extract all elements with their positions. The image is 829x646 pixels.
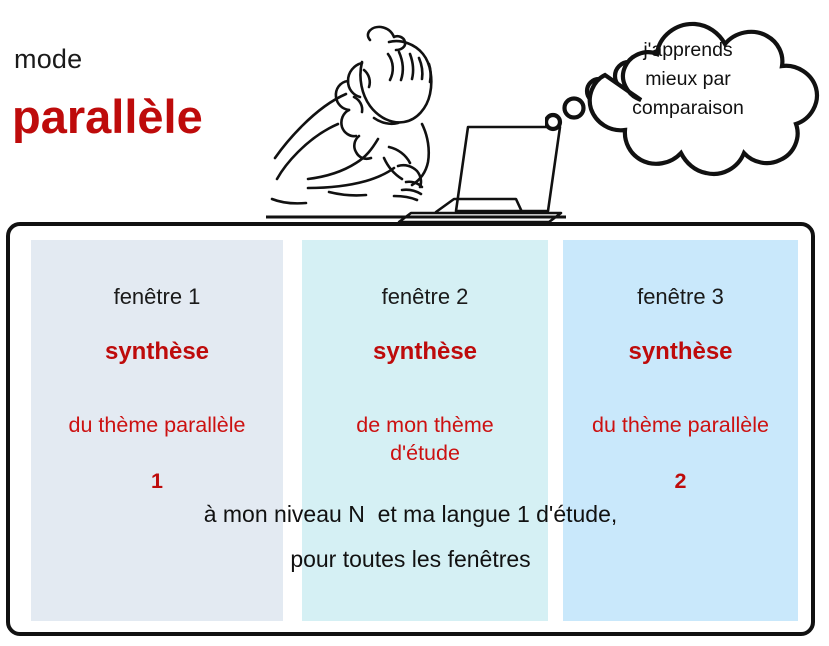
synthesis-subtitle-text-3: du thème parallèle: [592, 413, 769, 437]
window-panel-2[interactable]: fenêtre 2 synthèse de mon thème d'étude: [302, 240, 548, 621]
synthesis-subtitle-1: du thème parallèle 1: [31, 383, 283, 495]
mode-title: parallèle: [12, 89, 203, 144]
window-panel-2-content: fenêtre 2 synthèse de mon thème d'étude: [302, 240, 548, 467]
window-label-3: fenêtre 3: [563, 284, 798, 310]
synthesis-label-2: synthèse: [302, 338, 548, 366]
windows-frame: fenêtre 1 synthèse du thème parallèle 1 …: [6, 222, 815, 636]
slide-root: mode parallèle: [0, 0, 829, 646]
window-panel-1[interactable]: fenêtre 1 synthèse du thème parallèle 1: [31, 240, 283, 621]
mode-label: mode: [14, 44, 82, 75]
synthesis-label-3: synthèse: [563, 338, 798, 366]
synthesis-subtitle-3: du thème parallèle 2: [563, 383, 798, 495]
synthesis-label-1: synthèse: [31, 338, 283, 366]
window-panel-3-content: fenêtre 3 synthèse du thème parallèle 2: [563, 240, 798, 495]
synthesis-number-3: 2: [675, 469, 687, 493]
thought-bubble-text: j'apprends mieux par comparaison: [580, 36, 796, 123]
header-area: mode parallèle: [0, 0, 829, 222]
synthesis-subtitle-2: de mon thème d'étude: [302, 383, 548, 467]
synthesis-number-1: 1: [151, 469, 163, 493]
window-label-2: fenêtre 2: [302, 284, 548, 310]
window-label-1: fenêtre 1: [31, 284, 283, 310]
synthesis-subtitle-text-2: de mon thème d'étude: [356, 413, 493, 465]
windows-columns: fenêtre 1 synthèse du thème parallèle 1 …: [10, 226, 811, 632]
thought-dot-1: [546, 115, 560, 129]
student-at-laptop-illustration: [266, 6, 566, 222]
window-panel-3[interactable]: fenêtre 3 synthèse du thème parallèle 2: [563, 240, 798, 621]
synthesis-subtitle-text-1: du thème parallèle: [69, 413, 246, 437]
window-panel-1-content: fenêtre 1 synthèse du thème parallèle 1: [31, 240, 283, 495]
